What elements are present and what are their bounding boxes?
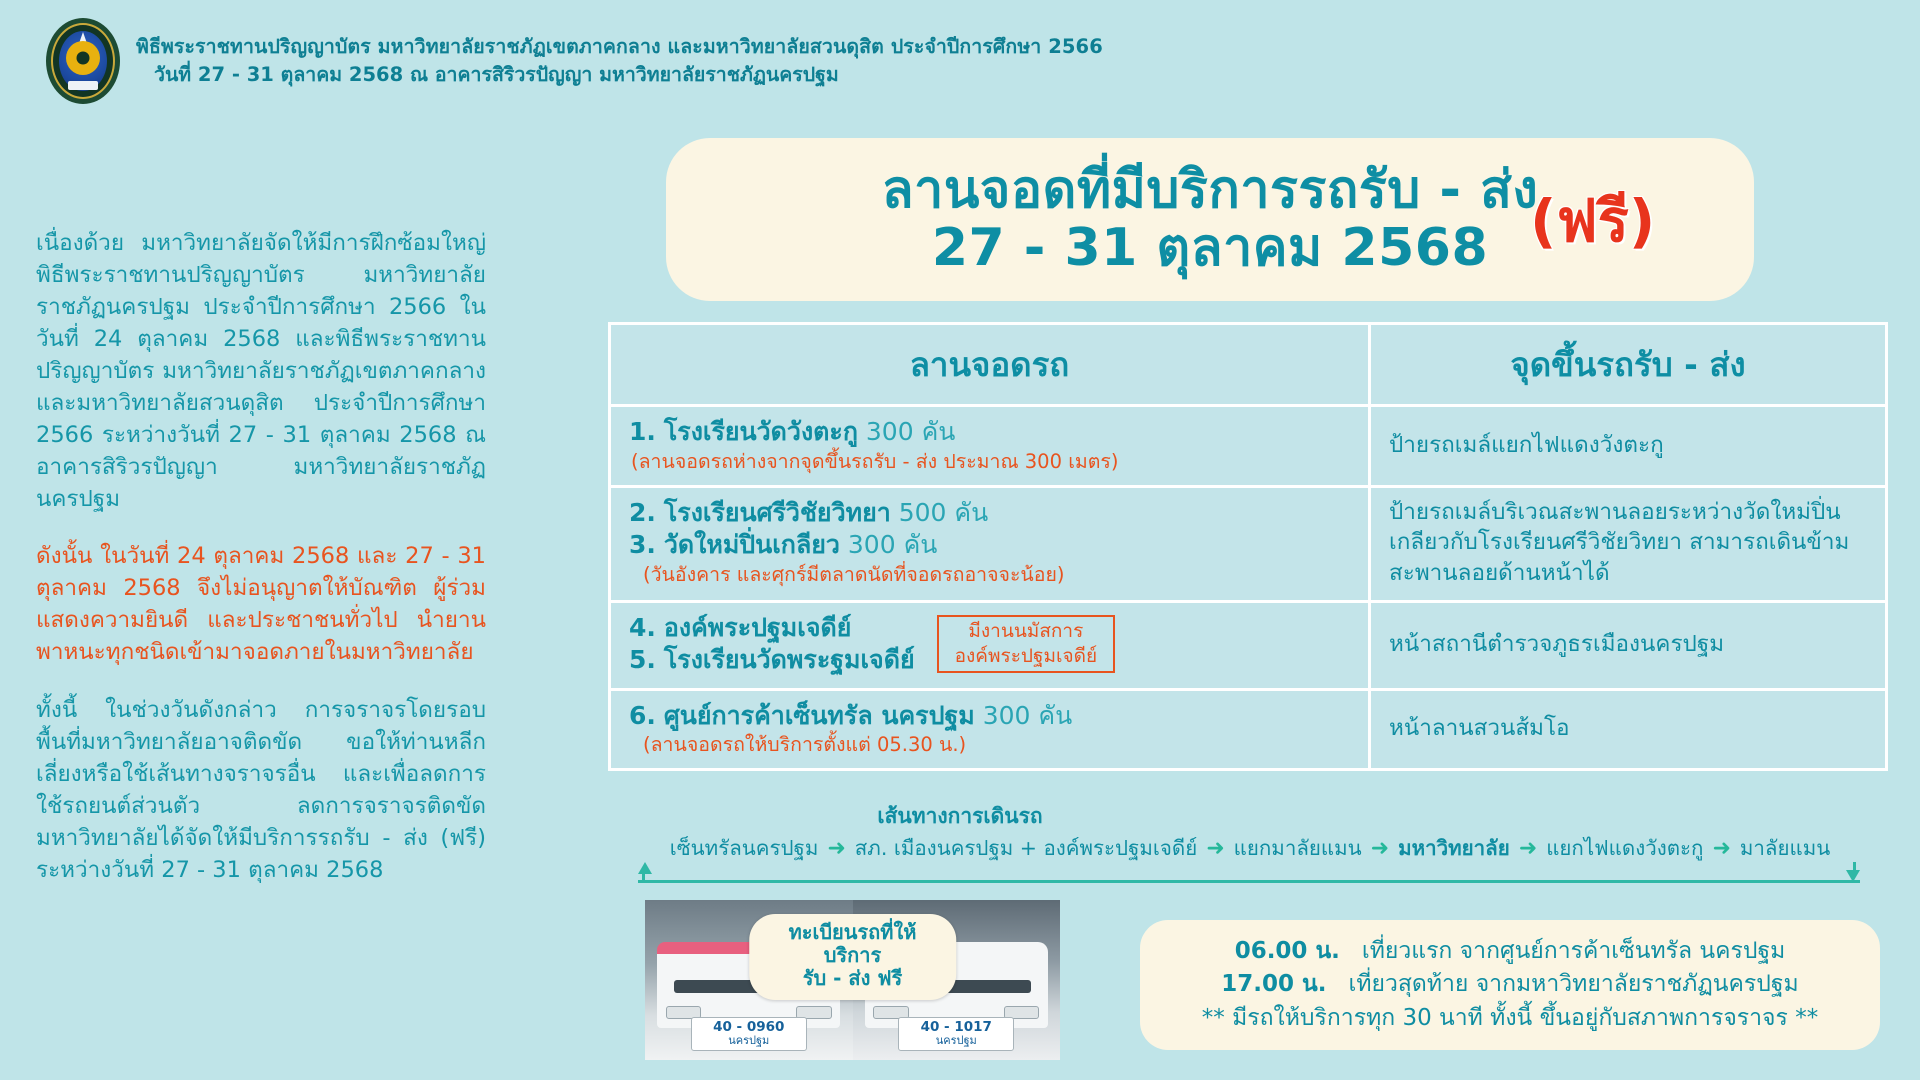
route-stop: มาลัยแมน xyxy=(1740,832,1830,865)
bus-photo-card: 40 - 0960 นครปฐม 40 - 1017 นครปฐม ทะเบีย… xyxy=(645,900,1060,1060)
arrow-right-icon: ➜ xyxy=(1371,836,1389,861)
table-header-row: ลานจอดรถ จุดขึ้นรถรับ - ส่ง xyxy=(611,325,1885,407)
lot-entry: 5. โรงเรียนวัดพระฐมเจดีย์ xyxy=(629,644,915,677)
table-row: 1. โรงเรียนวัดวังตะกู 300 คัน (ลานจอดรถห… xyxy=(611,407,1885,488)
arrow-right-icon: ➜ xyxy=(1206,836,1224,861)
schedule-box: 06.00 น. เที่ยวแรก จากศูนย์การค้าเซ็นทรั… xyxy=(1140,920,1880,1050)
license-plate: 40 - 1017 นครปฐม xyxy=(898,1017,1014,1051)
route-stop: สภ. เมืองนครปฐม + องค์พระปฐมเจดีย์ xyxy=(855,832,1197,865)
pickup-point-cell: ป้ายรถเมล์บริเวณสะพานลอยระหว่างวัดใหม่ปิ… xyxy=(1371,488,1885,600)
route-stop: แยกมาลัยแมน xyxy=(1234,832,1362,865)
arrow-right-icon: ➜ xyxy=(1712,836,1730,861)
parking-table: ลานจอดรถ จุดขึ้นรถรับ - ส่ง 1. โรงเรียนว… xyxy=(608,322,1888,771)
lot-entry: 2. โรงเรียนศรีวิชัยวิทยา 500 คัน xyxy=(629,497,1352,530)
route-title: เส้นทางการเดินรถ xyxy=(0,800,1920,833)
lot-note: (วันอังคาร และศุกร์มีตลาดนัดที่จอดรถอาจจ… xyxy=(629,562,1352,587)
poster-root: พิธีพระราชทานปริญญาบัตร มหาวิทยาลัยราชภั… xyxy=(0,0,1920,1080)
table-row: 2. โรงเรียนศรีวิชัยวิทยา 500 คัน 3. วัดใ… xyxy=(611,488,1885,603)
bus-label-badge: ทะเบียนรถที่ให้บริการ รับ - ส่ง ฟรี xyxy=(749,914,957,1000)
announcement-paragraph-2: ดังนั้น ในวันที่ 24 ตุลาคม 2568 และ 27 -… xyxy=(36,541,486,669)
header-line-2: วันที่ 27 - 31 ตุลาคม 2568 ณ อาคารสิริวร… xyxy=(136,61,1103,89)
lot-entry: 6. ศูนย์การค้าเซ็นทรัล นครปฐม 300 คัน xyxy=(629,700,1352,733)
table-row: 6. ศูนย์การค้าเซ็นทรัล นครปฐม 300 คัน (ล… xyxy=(611,691,1885,769)
pickup-point-cell: ป้ายรถเมล์แยกไฟแดงวังตะกู xyxy=(1371,407,1885,485)
license-plate: 40 - 0960 นครปฐม xyxy=(691,1017,807,1051)
table-header-parking-lots: ลานจอดรถ xyxy=(611,325,1371,404)
pickup-point-cell: หน้าลานสวนส้มโอ xyxy=(1371,691,1885,769)
route-stop-highlight: มหาวิทยาลัย xyxy=(1398,832,1510,865)
announcement-paragraph-3: ทั้งนี้ ในช่วงวันดังกล่าว การจราจรโดยรอบ… xyxy=(36,695,486,887)
arrow-right-icon: ➜ xyxy=(1519,836,1537,861)
parking-lot-cell: 6. ศูนย์การค้าเซ็นทรัล นครปฐม 300 คัน (ล… xyxy=(611,691,1371,769)
header-text: พิธีพระราชทานปริญญาบัตร มหาวิทยาลัยราชภั… xyxy=(136,33,1103,90)
parking-lot-cell: 2. โรงเรียนศรีวิชัยวิทยา 500 คัน 3. วัดใ… xyxy=(611,488,1371,600)
free-badge: (ฟรี) xyxy=(1530,192,1655,250)
festival-bracket-note: มีงานนมัสการ องค์พระปฐมเจดีย์ xyxy=(937,615,1116,672)
schedule-line-1: 06.00 น. เที่ยวแรก จากศูนย์การค้าเซ็นทรั… xyxy=(1235,935,1786,968)
banner-title-line-1: ลานจอดที่มีบริการรถรับ - ส่ง xyxy=(882,163,1538,219)
lot-entry: 3. วัดใหม่ปิ่นเกลียว 300 คัน xyxy=(629,529,1352,562)
header-line-1: พิธีพระราชทานปริญญาบัตร มหาวิทยาลัยราชภั… xyxy=(136,33,1103,61)
route-stop: เซ็นทรัลนครปฐม xyxy=(670,832,819,865)
left-text-column: เนื่องด้วย มหาวิทยาลัยจัดให้มีการฝึกซ้อม… xyxy=(36,228,486,887)
table-header-pickup-points: จุดขึ้นรถรับ - ส่ง xyxy=(1371,325,1885,404)
lot-entry: 4. องค์พระปฐมเจดีย์ xyxy=(629,612,915,645)
parking-lot-cell: 1. โรงเรียนวัดวังตะกู 300 คัน (ลานจอดรถห… xyxy=(611,407,1371,485)
announcement-paragraph-1: เนื่องด้วย มหาวิทยาลัยจัดให้มีการฝึกซ้อม… xyxy=(36,228,486,515)
pickup-point-cell: หน้าสถานีตำรวจภูธรเมืองนครปฐม xyxy=(1371,603,1885,688)
university-seal-icon xyxy=(46,18,120,104)
route-loop-indicator xyxy=(638,862,1860,892)
lot-note: (ลานจอดรถห่างจากจุดขึ้นรถรับ - ส่ง ประมา… xyxy=(629,449,1352,474)
schedule-line-2: 17.00 น. เที่ยวสุดท้าย จากมหาวิทยาลัยราช… xyxy=(1221,968,1798,1001)
route-stops: เซ็นทรัลนครปฐม ➜ สภ. เมืองนครปฐม + องค์พ… xyxy=(600,832,1900,865)
banner-title-line-2: 27 - 31 ตุลาคม 2568 xyxy=(932,221,1488,277)
lot-entry: 1. โรงเรียนวัดวังตะกู 300 คัน xyxy=(629,416,1352,449)
table-row: 4. องค์พระปฐมเจดีย์ 5. โรงเรียนวัดพระฐมเ… xyxy=(611,603,1885,691)
header: พิธีพระราชทานปริญญาบัตร มหาวิทยาลัยราชภั… xyxy=(46,18,1103,104)
lot-note: (ลานจอดรถให้บริการตั้งแต่ 05.30 น.) xyxy=(629,732,1352,757)
parking-lot-cell: 4. องค์พระปฐมเจดีย์ 5. โรงเรียนวัดพระฐมเ… xyxy=(611,603,1371,688)
route-stop: แยกไฟแดงวังตะกู xyxy=(1546,832,1703,865)
schedule-note: ** มีรถให้บริการทุก 30 นาที ทั้งนี้ ขึ้น… xyxy=(1202,1002,1818,1035)
arrow-right-icon: ➜ xyxy=(827,836,845,861)
